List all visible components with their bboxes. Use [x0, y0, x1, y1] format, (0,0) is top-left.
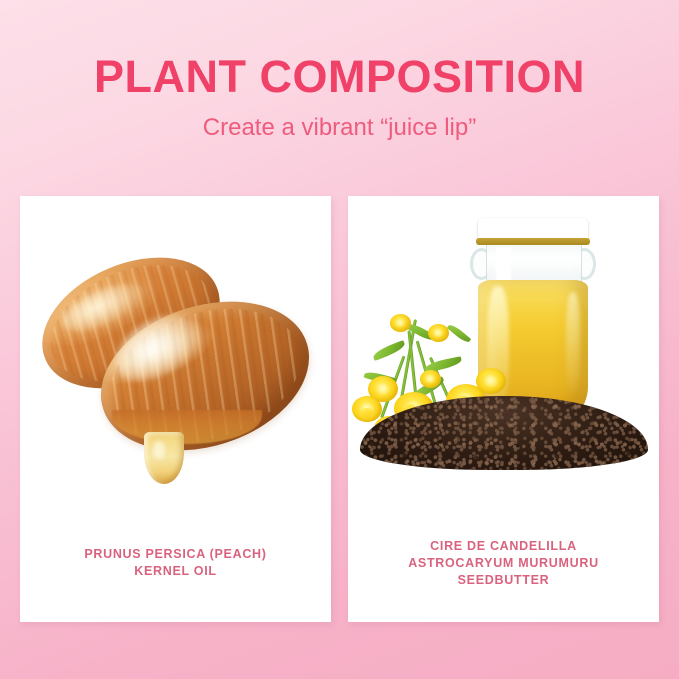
- peach-kernel-illustration: [20, 196, 331, 536]
- caption-line: PRUNUS PERSICA (PEACH): [20, 546, 331, 563]
- oil-droplet-icon: [144, 432, 184, 484]
- caption-line: CIRE DE CANDELILLA: [348, 538, 659, 555]
- oil-jar-illustration: [348, 196, 659, 536]
- caption-line: SEEDBUTTER: [348, 572, 659, 589]
- caption-line: ASTROCARYUM MURUMURU: [348, 555, 659, 572]
- flower-leaf: [447, 322, 471, 344]
- ingredient-card-candelilla-murumuru[interactable]: CIRE DE CANDELILLA ASTROCARYUM MURUMURU …: [348, 196, 659, 622]
- flower-bloom: [476, 368, 506, 394]
- jar-neck: [486, 245, 582, 285]
- jar-lid-rim: [476, 238, 590, 245]
- card-caption-peach: PRUNUS PERSICA (PEACH) KERNEL OIL: [20, 546, 331, 580]
- page-subtitle: Create a vibrant “juice lip”: [0, 116, 679, 140]
- flower-bloom: [428, 324, 449, 342]
- flower-bloom: [420, 370, 441, 388]
- flower-bloom: [390, 314, 411, 332]
- ingredient-card-peach-kernel-oil[interactable]: PRUNUS PERSICA (PEACH) KERNEL OIL: [20, 196, 331, 622]
- header: PLANT COMPOSITION Create a vibrant “juic…: [0, 54, 679, 140]
- page-title: PLANT COMPOSITION: [0, 54, 679, 99]
- plant-composition-poster: PLANT COMPOSITION Create a vibrant “juic…: [0, 0, 679, 679]
- scattered-seeds-icon: [354, 434, 652, 468]
- card-caption-candelilla: CIRE DE CANDELILLA ASTROCARYUM MURUMURU …: [348, 538, 659, 589]
- caption-line: KERNEL OIL: [20, 563, 331, 580]
- ingredient-card-list: PRUNUS PERSICA (PEACH) KERNEL OIL: [20, 196, 659, 622]
